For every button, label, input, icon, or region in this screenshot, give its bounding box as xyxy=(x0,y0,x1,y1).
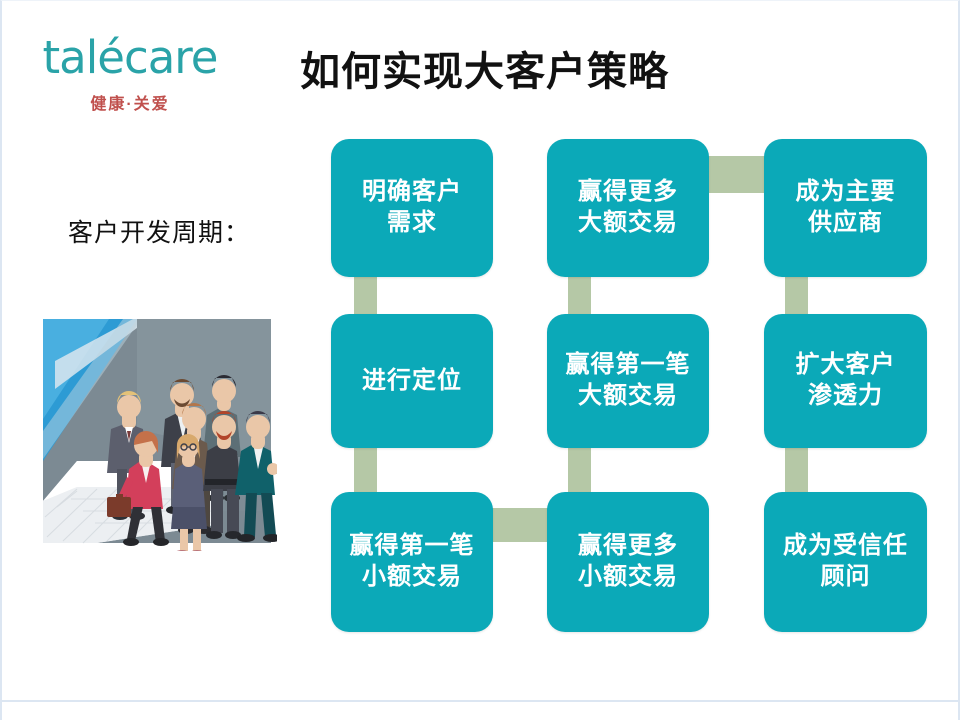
flow-node-r0c2[interactable]: 成为主要 供应商 xyxy=(764,139,927,277)
slide-bottom-strip xyxy=(2,700,958,720)
flow-node-label: 明确客户 需求 xyxy=(352,177,472,238)
flow-node-r1c1[interactable]: 赢得第一笔 大额交易 xyxy=(547,314,709,448)
page-title: 如何实现大客户策略 xyxy=(300,39,669,97)
business-people-illustration xyxy=(37,311,277,551)
flow-node-label: 成为主要 供应商 xyxy=(786,177,906,238)
flow-node-label: 赢得更多 大额交易 xyxy=(568,177,688,238)
flow-node-r2c1[interactable]: 赢得更多 小额交易 xyxy=(547,492,709,632)
left-caption-label: 客户开发周期： xyxy=(68,213,250,249)
brand-logo: talécare 健康·关爱 xyxy=(30,35,230,114)
flow-node-r2c0[interactable]: 赢得第一笔 小额交易 xyxy=(331,492,493,632)
flow-node-label: 扩大客户 渗透力 xyxy=(786,350,906,411)
logo-wordmark: talécare xyxy=(30,35,230,80)
logo-wordmark-part1: tal xyxy=(43,31,98,84)
logo-tagline: 健康·关爱 xyxy=(30,90,230,114)
flow-node-label: 成为受信任 顾问 xyxy=(773,531,918,592)
flow-node-r2c2[interactable]: 成为受信任 顾问 xyxy=(764,492,927,632)
flow-node-r0c0[interactable]: 明确客户 需求 xyxy=(331,139,493,277)
flow-node-label: 赢得更多 小额交易 xyxy=(568,531,688,592)
flow-node-label: 赢得第一笔 小额交易 xyxy=(340,531,485,592)
logo-wordmark-part2: care xyxy=(124,31,218,84)
flow-node-label: 进行定位 xyxy=(352,366,472,397)
logo-wordmark-accent: é xyxy=(97,31,124,84)
flow-node-r0c1[interactable]: 赢得更多 大额交易 xyxy=(547,139,709,277)
connector-c1-r1-r2 xyxy=(568,445,591,495)
illustration-graphic xyxy=(37,311,277,551)
slide-canvas: talécare 健康·关爱 如何实现大客户策略 客户开发周期： xyxy=(0,0,960,720)
connector-c2-r1-r2 xyxy=(785,445,808,495)
connector-c0-r1-r2 xyxy=(354,445,377,495)
flow-node-r1c0[interactable]: 进行定位 xyxy=(331,314,493,448)
flow-node-r1c2[interactable]: 扩大客户 渗透力 xyxy=(764,314,927,448)
connector-r0-c1-c2 xyxy=(702,156,772,193)
flow-node-label: 赢得第一笔 大额交易 xyxy=(556,350,701,411)
